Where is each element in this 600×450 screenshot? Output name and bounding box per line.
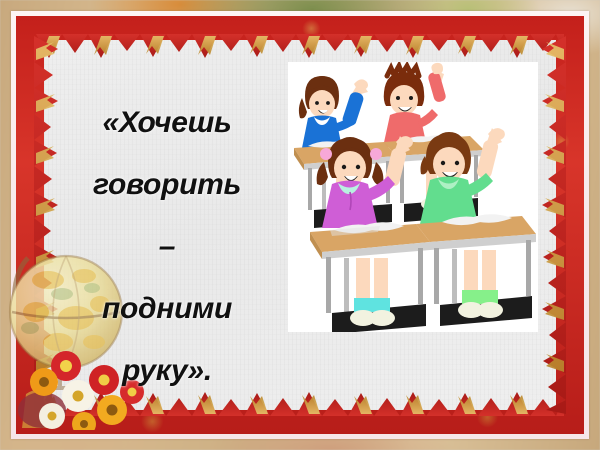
classroom-illustration <box>288 62 538 332</box>
quote-line-2: говорить <box>52 154 282 216</box>
quote-line-5: руку». <box>52 340 282 402</box>
classroom-illustration-svg <box>288 62 538 332</box>
quote-line-1: «Хочешь <box>52 92 282 154</box>
quote-line-3: – <box>52 216 282 278</box>
slide: «Хочешь говорить – подними руку». <box>0 0 600 450</box>
quote-line-4: подними <box>52 278 282 340</box>
quote-text: «Хочешь говорить – подними руку». <box>52 92 282 402</box>
